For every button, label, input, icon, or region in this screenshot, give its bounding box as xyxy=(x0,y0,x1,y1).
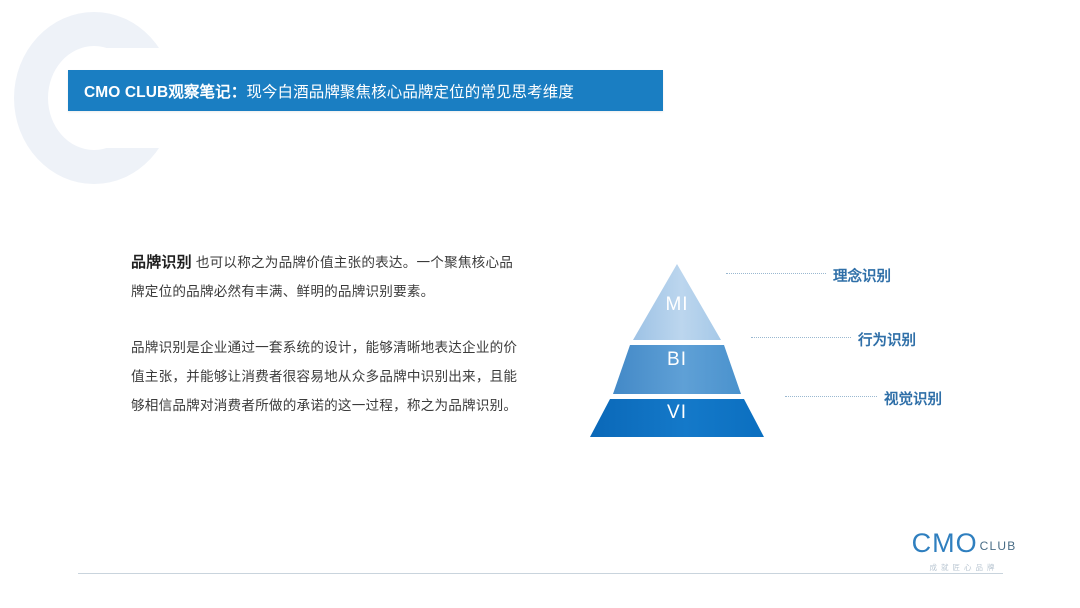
pyramid-tier-bi xyxy=(613,345,741,394)
pyramid-tier-mi xyxy=(633,264,721,340)
logo-main-text: CMO xyxy=(912,528,978,558)
callout-label-vi: 视觉识别 xyxy=(884,388,942,409)
leader-line-mi xyxy=(726,273,826,274)
banner-title-bold: CMO CLUB观察笔记： xyxy=(84,84,246,101)
callout-label-bi: 行为识别 xyxy=(858,329,916,350)
paragraph-one: 品牌识别也可以称之为品牌价值主张的表达。一个聚焦核心品牌定位的品牌必然有丰满、鲜… xyxy=(131,248,521,306)
paragraph-one-lead: 品牌识别 xyxy=(131,254,192,271)
logo-sub-text: CLUB xyxy=(980,539,1017,553)
pyramid-tier-vi xyxy=(590,399,764,437)
paragraph-two: 品牌识别是企业通过一套系统的设计，能够清晰地表达企业的价值主张，并能够让消费者很… xyxy=(131,333,521,420)
banner-title: CMO CLUB观察笔记：现今白酒品牌聚焦核心品牌定位的常见思考维度 xyxy=(84,80,574,102)
logo-tagline: 成就匠心品牌 xyxy=(898,562,1030,573)
footer-divider xyxy=(78,573,1003,574)
body-text-column: 品牌识别也可以称之为品牌价值主张的表达。一个聚焦核心品牌定位的品牌必然有丰满、鲜… xyxy=(131,248,521,420)
banner-title-rest: 现今白酒品牌聚焦核心品牌定位的常见思考维度 xyxy=(246,84,574,101)
pyramid-diagram: MI BI VI xyxy=(540,250,1020,450)
header-banner: CMO CLUB观察笔记：现今白酒品牌聚焦核心品牌定位的常见思考维度 xyxy=(68,70,663,111)
callout-label-mi: 理念识别 xyxy=(833,265,891,286)
leader-line-bi xyxy=(751,337,851,338)
logo-wordmark: CMOCLUB xyxy=(898,528,1030,561)
leader-line-vi xyxy=(785,396,877,397)
cmo-club-logo: CMOCLUB 成就匠心品牌 xyxy=(898,528,1030,574)
pyramid-shapes xyxy=(540,250,840,450)
